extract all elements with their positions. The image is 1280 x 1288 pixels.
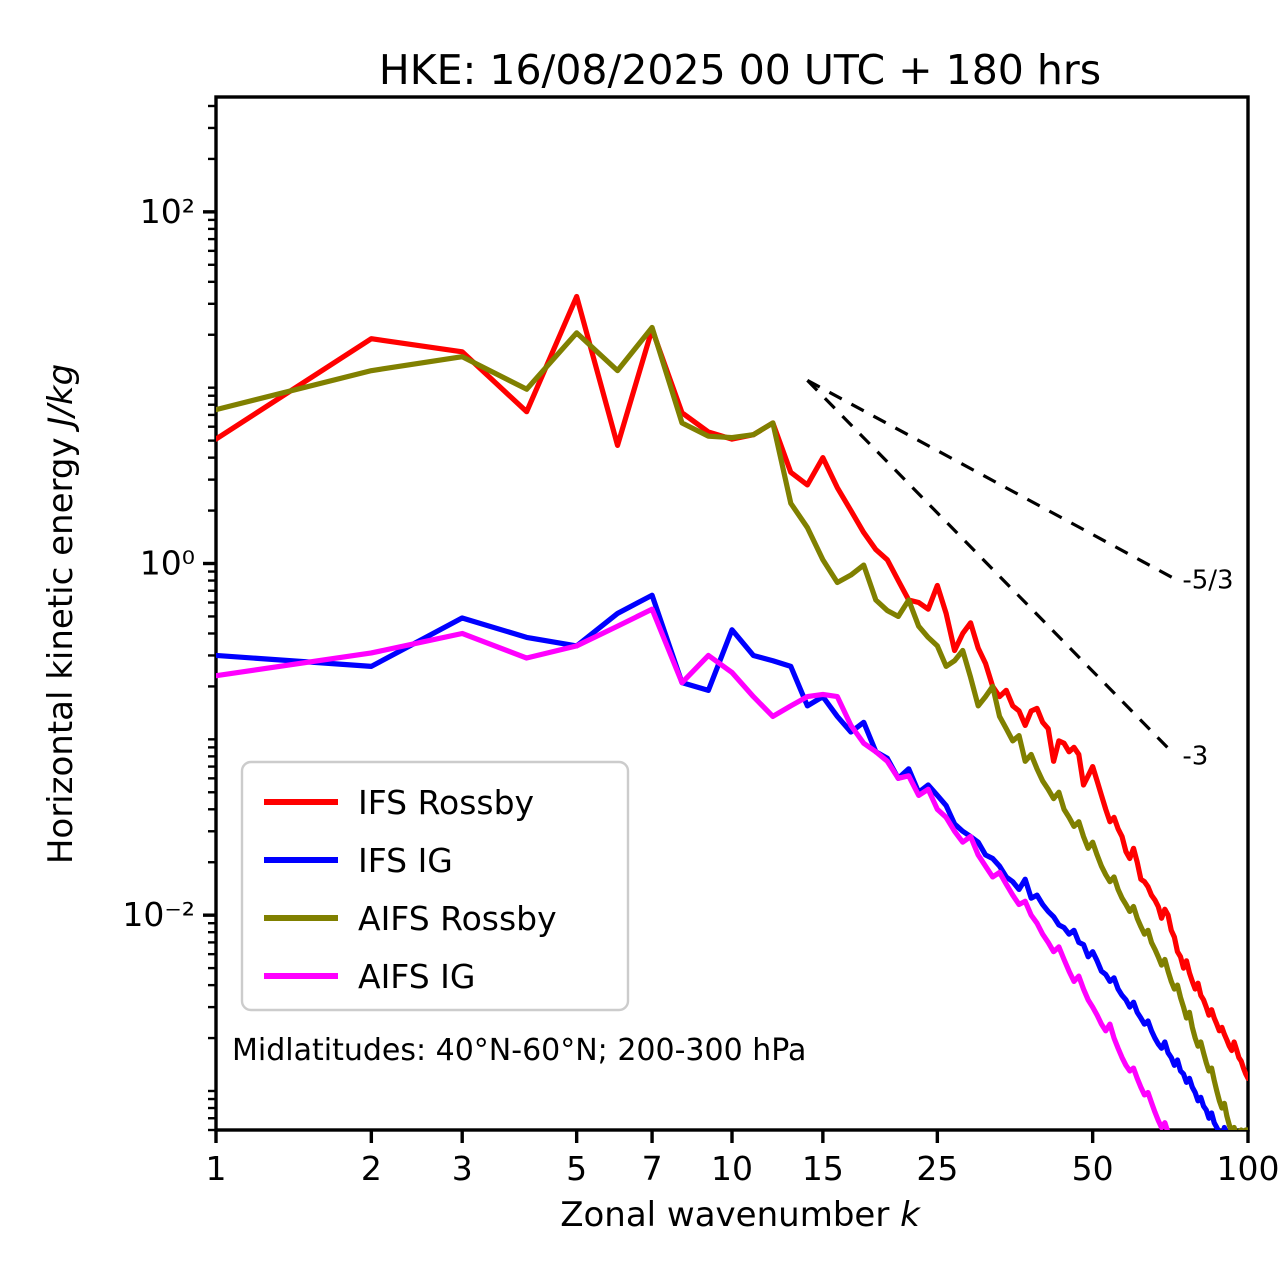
legend[interactable]: IFS RossbyIFS IGAIFS RossbyAIFS IG [242, 762, 628, 1010]
x-axis-label-symbol: k [900, 1195, 921, 1235]
x-tick-label: 5 [566, 1149, 587, 1188]
x-tick-label: 7 [642, 1149, 663, 1188]
y-tick-label: 10⁰ [140, 544, 195, 583]
legend-item-label[interactable]: AIFS IG [358, 957, 475, 996]
x-axis-label-text: Zonal wavenumber [560, 1195, 900, 1235]
reference-line-label: -5/3 [1182, 566, 1233, 596]
x-tick-label: 10 [711, 1149, 753, 1188]
region-annotation: Midlatitudes: 40°N-60°N; 200-300 hPa [232, 1033, 806, 1068]
x-tick-label: 2 [361, 1149, 382, 1188]
legend-item-label[interactable]: IFS IG [358, 841, 453, 880]
figure-canvas: HKE: 16/08/2025 00 UTC + 180 hrs 10²10⁰1… [0, 0, 1280, 1288]
x-tick-label: 15 [802, 1149, 844, 1188]
y-axis-label-text: Horizontal kinetic energy [41, 427, 81, 865]
y-tick-label: 10⁻² [122, 895, 195, 934]
x-tick-label: 1 [206, 1149, 227, 1188]
chart-title: HKE: 16/08/2025 00 UTC + 180 hrs [379, 46, 1101, 94]
y-axis-label-unit: J/kg [41, 364, 81, 433]
x-axis-label: Zonal wavenumber k [560, 1195, 921, 1235]
y-tick-label: 10² [140, 192, 195, 231]
hke-spectrum-chart: HKE: 16/08/2025 00 UTC + 180 hrs 10²10⁰1… [0, 0, 1280, 1288]
x-tick-label: 3 [452, 1149, 473, 1188]
x-tick-label: 25 [916, 1149, 958, 1188]
y-axis-label: Horizontal kinetic energy J/kg [41, 364, 81, 864]
legend-item-label[interactable]: IFS Rossby [358, 783, 534, 822]
x-tick-label: 50 [1072, 1149, 1114, 1188]
x-tick-label: 100 [1217, 1149, 1280, 1188]
reference-line-label: -3 [1182, 741, 1208, 771]
legend-item-label[interactable]: AIFS Rossby [358, 899, 557, 938]
